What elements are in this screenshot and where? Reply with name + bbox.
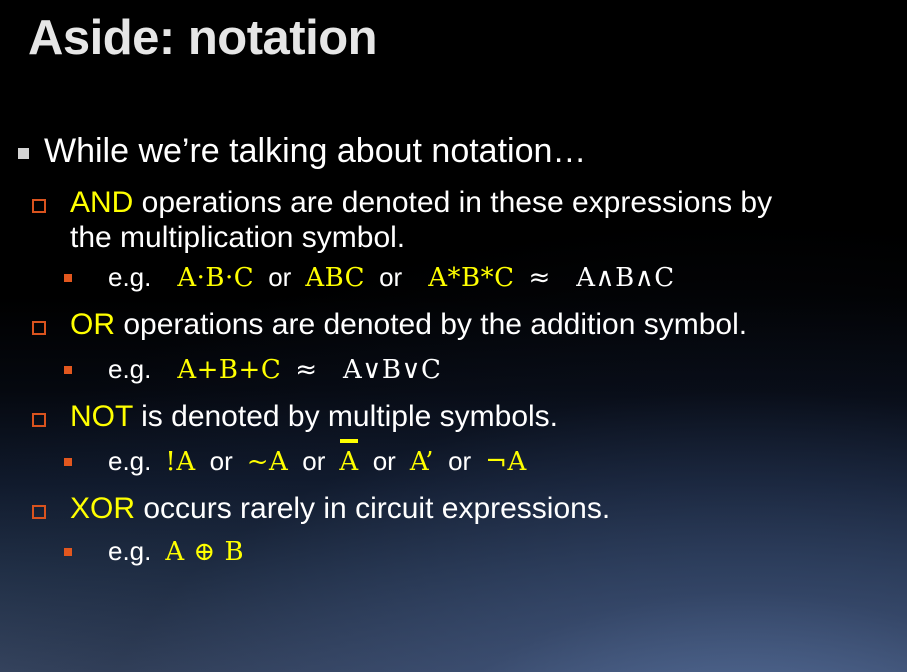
eg-label: e.g. (108, 262, 151, 292)
keyword-xor: XOR (70, 492, 135, 525)
example-line: e.g.A ⊕ B (36, 536, 907, 567)
slide-body: While we’re talking about notation… AND … (0, 132, 907, 572)
list-item-while: While we’re talking about notation… (0, 132, 907, 178)
expression-and-star: A*B*C (428, 263, 514, 293)
list-item-or: OR operations are denoted by the additio… (0, 308, 907, 348)
expression-not-tilde: ~A (247, 447, 289, 477)
list-item-not-example: e.g.!Aor~AorAorA’or¬A (0, 446, 907, 482)
conjunction-or: or (373, 446, 396, 476)
eg-label: e.g. (108, 536, 151, 566)
conjunction-or: or (448, 446, 471, 476)
slide-canvas: Aside: notation While we’re talking abou… (0, 0, 907, 672)
list-item-text: is denoted by multiple symbols. (133, 400, 558, 433)
approx-symbol: ≈ (528, 263, 550, 293)
list-item-and-example: e.g.A·B·CorABCorA*B*C≈A∧B∧C (0, 262, 907, 298)
list-item-label: OR operations are denoted by the additio… (36, 308, 816, 343)
example-line: e.g.A·B·CorABCorA*B*C≈A∧B∧C (36, 262, 907, 293)
expression-not-lnot: ¬A (485, 447, 527, 477)
conjunction-or: or (268, 262, 291, 292)
eg-label: e.g. (108, 354, 151, 384)
approx-symbol: ≈ (295, 355, 317, 385)
list-item-label: XOR occurs rarely in circuit expressions… (36, 492, 816, 527)
eg-label: e.g. (108, 446, 151, 476)
keyword-not: NOT (70, 400, 133, 433)
expression-not-bang: !A (165, 447, 195, 477)
list-item-xor: XOR occurs rarely in circuit expressions… (0, 492, 907, 532)
expression-xor-oplus: A ⊕ B (165, 537, 244, 567)
list-item-label: NOT is denoted by multiple symbols. (36, 400, 816, 435)
list-item-text: occurs rarely in circuit expressions. (135, 492, 610, 525)
conjunction-or: or (379, 262, 402, 292)
conjunction-or: or (210, 446, 233, 476)
expression-and-implicit: ABC (305, 263, 365, 293)
list-item-label: While we’re talking about notation… (42, 132, 907, 171)
page-title: Aside: notation (28, 14, 377, 63)
expression-not-prime: A’ (410, 447, 434, 477)
list-item-text: operations are denoted by the addition s… (115, 308, 747, 341)
conjunction-or: or (302, 446, 325, 476)
expression-and-dot: A·B·C (177, 263, 254, 293)
expression-or-plus: A+B+C (177, 355, 281, 385)
list-item-not: NOT is denoted by multiple symbols. (0, 400, 907, 440)
list-item-label: AND operations are denoted in these expr… (36, 186, 816, 256)
expression-and-wedge: A∧B∧C (576, 263, 674, 293)
expression-or-vee: A∨B∨C (343, 355, 441, 385)
keyword-and: AND (70, 186, 133, 219)
list-item-text: operations are denoted in these expressi… (70, 186, 772, 254)
list-item-xor-example: e.g.A ⊕ B (0, 536, 907, 572)
example-line: e.g.!Aor~AorAorA’or¬A (36, 446, 907, 477)
list-item-and: AND operations are denoted in these expr… (0, 186, 907, 256)
keyword-or: OR (70, 308, 115, 341)
list-item-or-example: e.g.A+B+C≈A∨B∨C (0, 354, 907, 390)
expression-not-overbar: A (339, 447, 358, 477)
example-line: e.g.A+B+C≈A∨B∨C (36, 354, 907, 385)
